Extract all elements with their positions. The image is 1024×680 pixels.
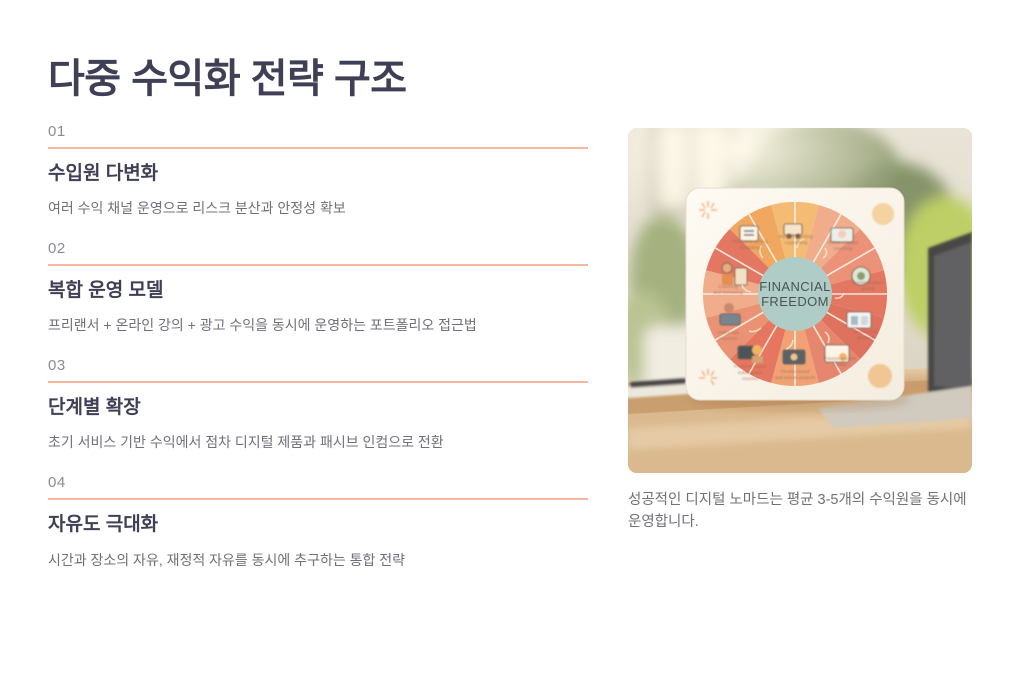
slide-root: 다중 수익화 전략 구조 01 수입원 다변화 여러 수익 채널 운영으로 리스… [0, 0, 1024, 680]
list-item-divider [48, 147, 588, 149]
list-item-heading: 수입원 다변화 [48, 161, 588, 187]
list-item-number: 02 [48, 241, 588, 258]
list-item: 01 수입원 다변화 여러 수익 채널 운영으로 리스크 분산과 안정성 확보 [48, 124, 588, 219]
list-item-heading: 단계별 확장 [48, 395, 588, 421]
list-item-heading: 자유도 극대화 [48, 512, 588, 538]
list-item-divider [48, 498, 588, 500]
photo-caption: 성공적인 디지털 노마드는 평균 3-5개의 수익원을 동시에 운영합니다. [628, 489, 968, 534]
list-item-description: 여러 수익 채널 운영으로 리스크 분산과 안정성 확보 [48, 198, 588, 219]
list-item: 04 자유도 극대화 시간과 장소의 자유, 재정적 자유를 동시에 추구하는 … [48, 475, 588, 570]
list-item-divider [48, 264, 588, 266]
list-item-description: 초기 서비스 기반 수익에서 점차 디지털 제품과 패시브 인컴으로 전환 [48, 432, 588, 453]
list-item-description: 프리랜서 + 온라인 강의 + 광고 수익을 동시에 운영하는 포트폴리오 접근… [48, 315, 588, 336]
page-title: 다중 수익화 전략 구조 [48, 55, 407, 103]
list-item: 03 단계별 확장 초기 서비스 기반 수익에서 점차 디지털 제품과 패시브 … [48, 358, 588, 453]
list-item-description: 시간과 장소의 자유, 재정적 자유를 동시에 추구하는 통합 전략 [48, 550, 588, 571]
list-item-heading: 복합 운영 모델 [48, 278, 588, 304]
list-item-number: 01 [48, 124, 588, 141]
list-item-divider [48, 381, 588, 383]
strategy-list: 01 수입원 다변화 여러 수익 채널 운영으로 리스크 분산과 안정성 확보 … [48, 124, 588, 593]
media-column: FINANCIAL FREEDOM [628, 128, 972, 534]
financial-freedom-wheel-photo: FINANCIAL FREEDOM [628, 128, 972, 473]
list-item-number: 04 [48, 475, 588, 492]
list-item-number: 03 [48, 358, 588, 375]
list-item: 02 복합 운영 모델 프리랜서 + 온라인 강의 + 광고 수익을 동시에 운… [48, 241, 588, 336]
